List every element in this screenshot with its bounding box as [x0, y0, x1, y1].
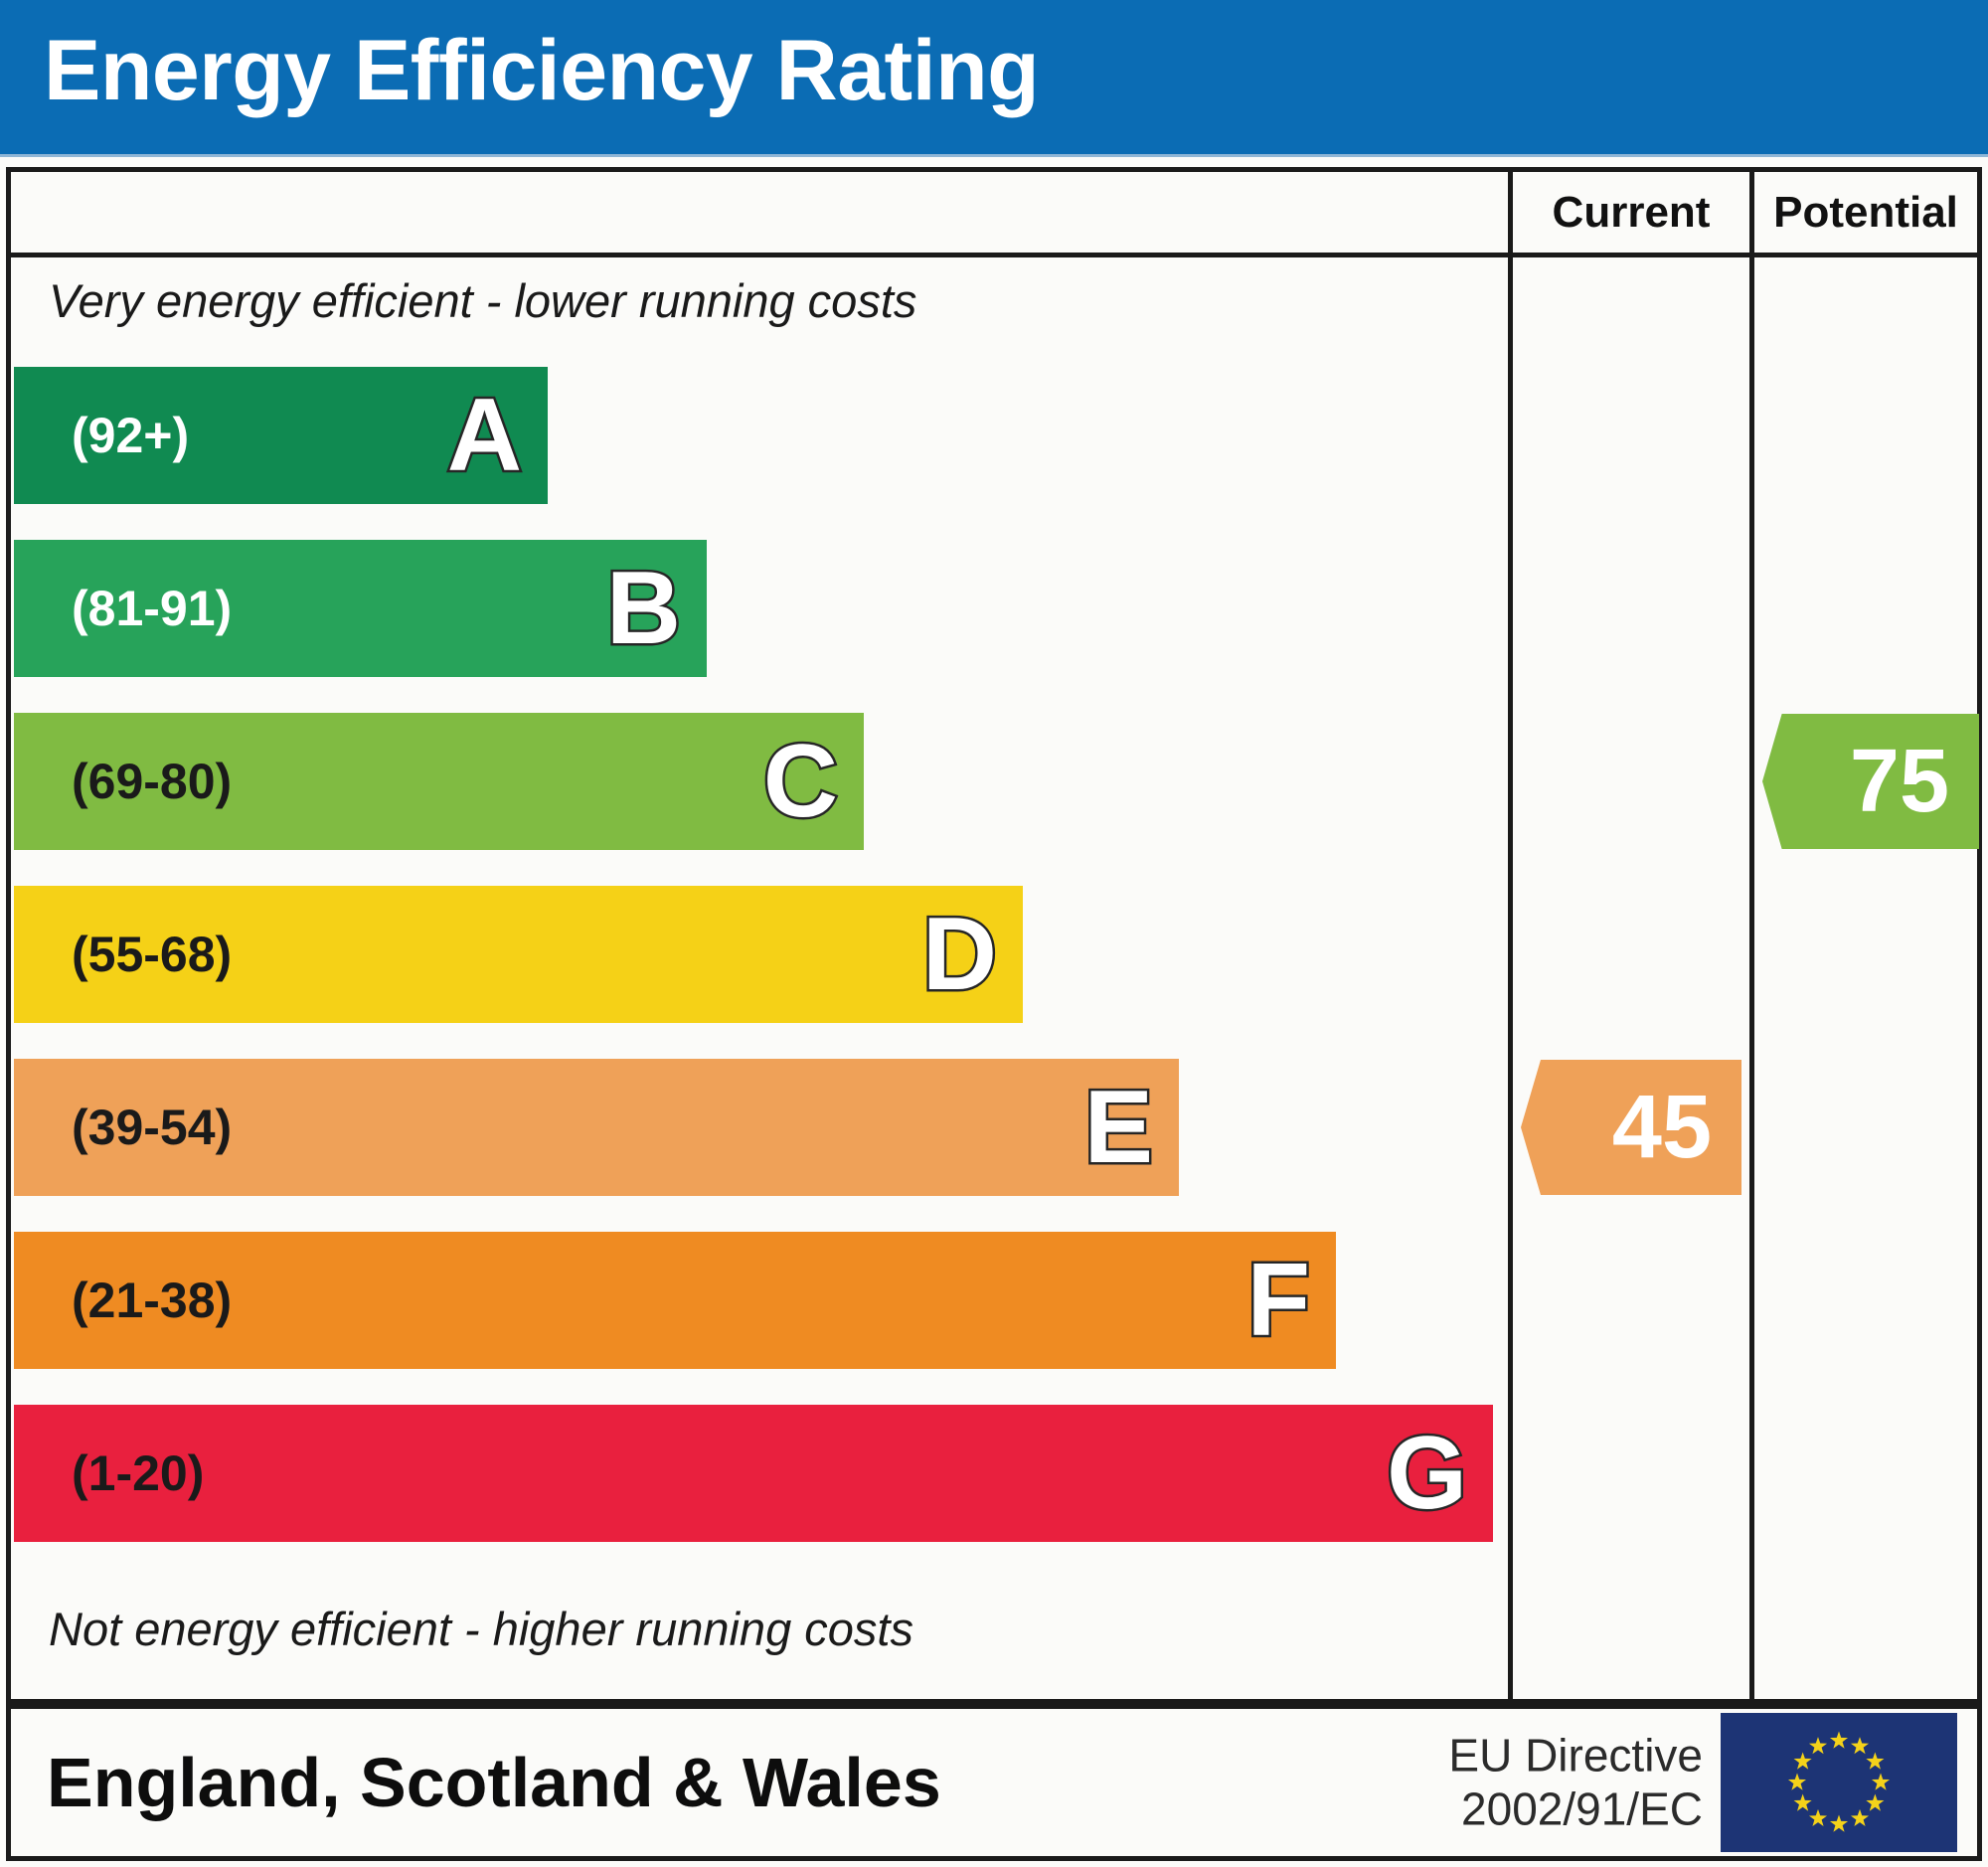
band-range-d: (55-68) — [72, 930, 232, 979]
band-letter-c: C — [763, 730, 838, 833]
rating-band-d: (55-68)D — [14, 886, 1023, 1023]
energy-efficiency-certificate: Energy Efficiency Rating Current Potenti… — [0, 0, 1988, 1867]
band-range-b: (81-91) — [72, 584, 232, 633]
rating-band-c: (69-80)C — [14, 713, 864, 850]
eu-flag-icon — [1721, 1713, 1957, 1852]
band-range-a: (92+) — [72, 411, 189, 460]
band-letter-f: F — [1246, 1249, 1310, 1352]
page-title: Energy Efficiency Rating — [44, 22, 1039, 120]
footer-bar: England, Scotland & Wales EU Directive 2… — [6, 1704, 1982, 1861]
directive-line-1: EU Directive — [1448, 1729, 1703, 1782]
rating-bands: (92+)A(81-91)B(69-80)C(55-68)D(39-54)E(2… — [11, 367, 1502, 1582]
caption-inefficient: Not energy efficient - higher running co… — [49, 1602, 913, 1656]
column-divider-right — [1749, 257, 1754, 1699]
rating-band-b: (81-91)B — [14, 540, 707, 677]
title-bar: Energy Efficiency Rating — [0, 0, 1988, 157]
rating-band-g: (1-20)G — [14, 1405, 1493, 1542]
band-letter-b: B — [606, 557, 681, 660]
band-letter-g: G — [1387, 1422, 1467, 1525]
band-range-g: (1-20) — [72, 1448, 204, 1498]
band-letter-d: D — [922, 903, 997, 1006]
column-header-potential: Potential — [1754, 172, 1977, 253]
rating-band-a: (92+)A — [14, 367, 548, 504]
band-letter-e: E — [1084, 1076, 1153, 1179]
column-header-row: Current Potential — [11, 172, 1977, 257]
band-letter-a: A — [447, 384, 522, 487]
directive-line-2: 2002/91/EC — [1448, 1782, 1703, 1836]
current-rating-arrow: 45 — [1521, 1060, 1741, 1195]
column-header-current: Current — [1508, 172, 1754, 253]
footer-directive-label: EU Directive 2002/91/EC — [1448, 1729, 1703, 1837]
rating-band-f: (21-38)F — [14, 1232, 1336, 1369]
rating-band-e: (39-54)E — [14, 1059, 1179, 1196]
band-range-c: (69-80) — [72, 757, 232, 806]
band-range-f: (21-38) — [72, 1275, 232, 1325]
column-divider-left — [1508, 257, 1513, 1699]
band-range-e: (39-54) — [72, 1103, 232, 1152]
footer-region-label: England, Scotland & Wales — [47, 1743, 941, 1822]
caption-efficient: Very energy efficient - lower running co… — [49, 273, 916, 328]
potential-rating-arrow: 75 — [1762, 714, 1979, 849]
rating-chart-box: Current Potential Very energy efficient … — [6, 167, 1982, 1704]
